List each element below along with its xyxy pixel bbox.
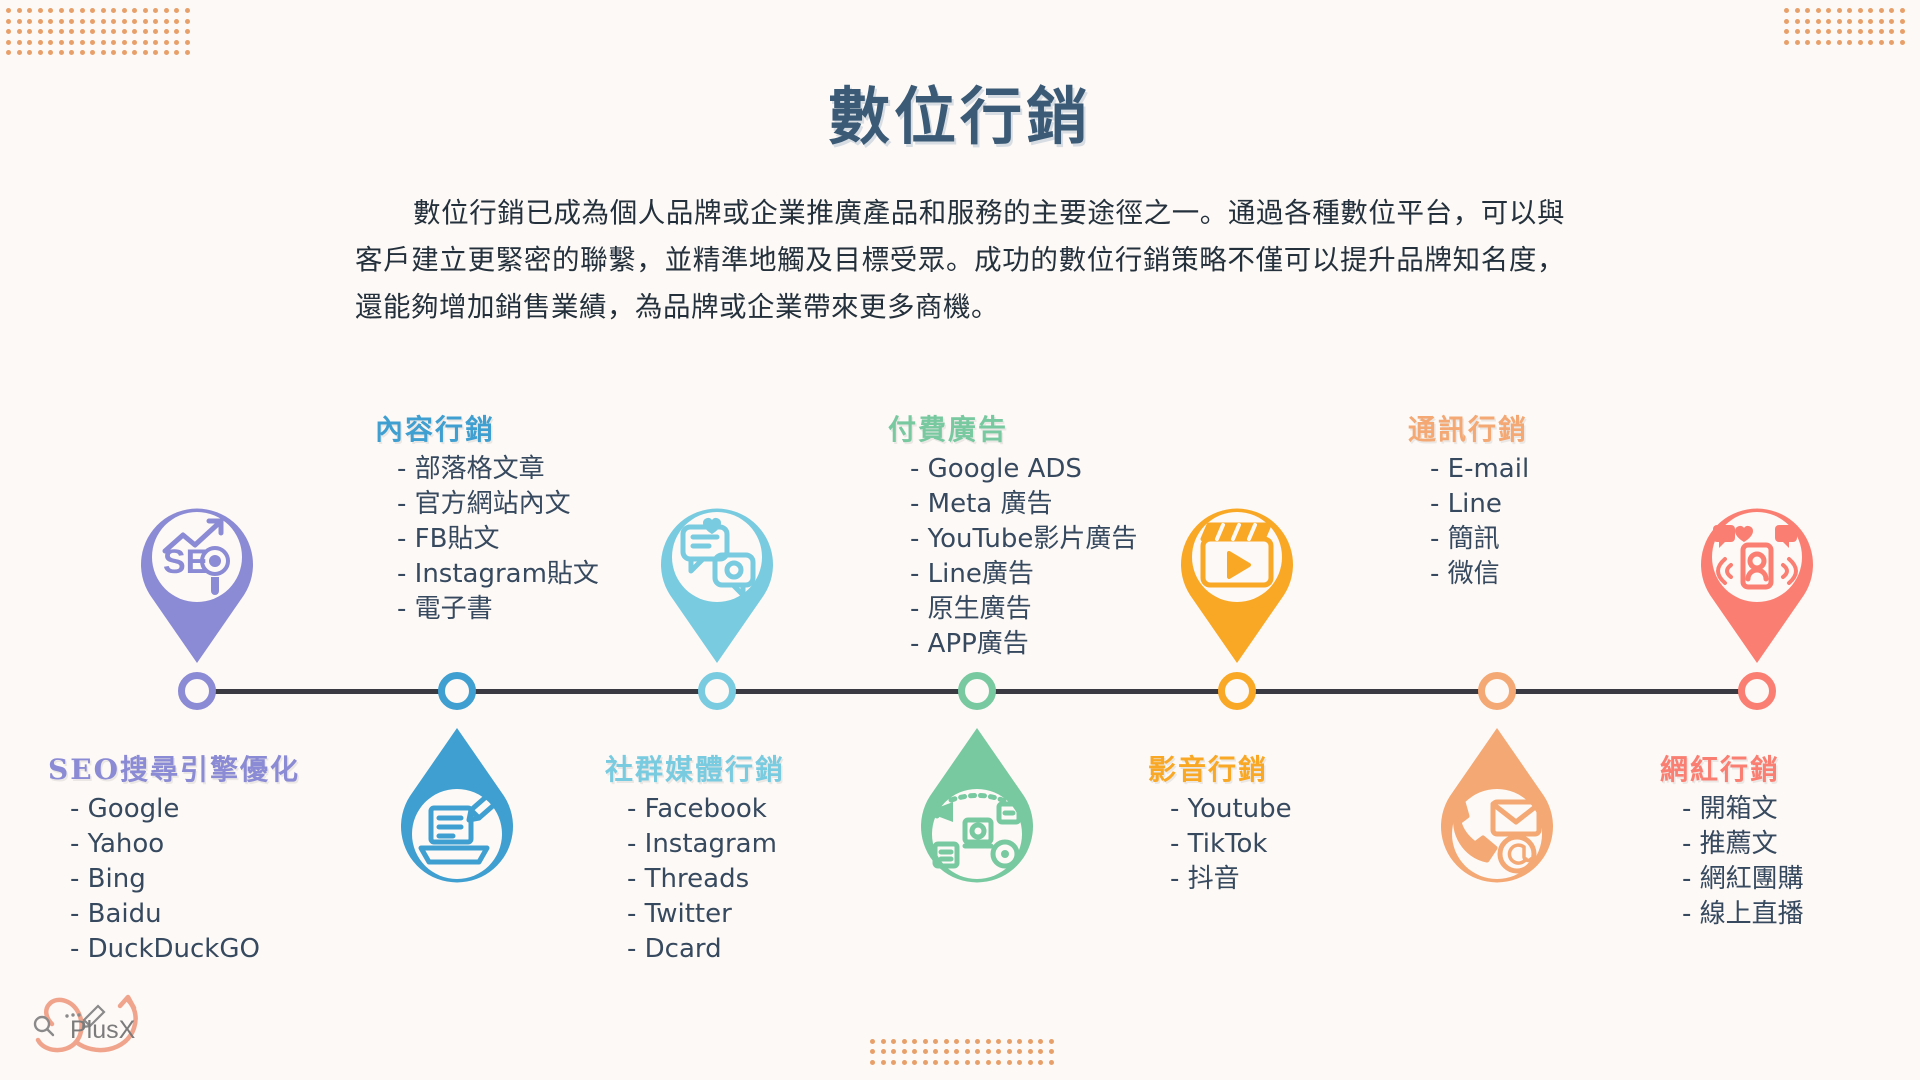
list-item: Line [1430,487,1529,522]
list-item: Line廣告 [910,557,1137,592]
list-item: Instagram [627,827,785,862]
section-list-video: YoutubeTikTok抖音 [1148,792,1292,897]
list-item: 推薦文 [1682,827,1804,862]
timeline-node-content[interactable] [438,672,476,710]
section-heading-video: 影音行銷 [1148,748,1292,788]
list-item: TikTok [1170,827,1292,862]
section-influencer: 網紅行銷開箱文推薦文網紅團購線上直播 [1660,748,1804,932]
list-item: Bing [70,862,300,897]
section-heading-paidads: 付費廣告 [888,408,1137,448]
intro-paragraph: 數位行銷已成為個人品牌或企業推廣產品和服務的主要途徑之一。通過各種數位平台，可以… [355,190,1565,331]
list-item: Facebook [627,792,785,827]
list-item: 部落格文章 [397,452,599,487]
list-item: FB貼文 [397,522,599,557]
list-item: Google [70,792,300,827]
section-heading-social: 社群媒體行銷 [605,748,785,788]
timeline-node-video[interactable] [1218,672,1256,710]
page-title: 數位行銷 [0,66,1920,156]
section-list-seo: GoogleYahooBingBaiduDuckDuckGO [48,792,300,967]
list-item: 官方網站內文 [397,487,599,522]
list-item: Baidu [70,897,300,932]
marker-pin-influencer[interactable] [1682,487,1832,663]
marker-pin-social[interactable] [642,487,792,663]
list-item: 線上直播 [1682,897,1804,932]
list-item: 網紅團購 [1682,862,1804,897]
list-item: Dcard [627,932,785,967]
list-item: DuckDuckGO [70,932,300,967]
section-paidads: 付費廣告Google ADSMeta 廣告YouTube影片廣告Line廣告原生… [888,408,1137,662]
list-item: 電子書 [397,592,599,627]
section-seo: SEO搜尋引擎優化GoogleYahooBingBaiduDuckDuckGO [48,748,300,967]
list-item: Twitter [627,897,785,932]
section-content: 內容行銷部落格文章官方網站內文FB貼文Instagram貼文電子書 [375,408,599,627]
list-item: E-mail [1430,452,1529,487]
timeline-node-influencer[interactable] [1738,672,1776,710]
list-item: APP廣告 [910,627,1137,662]
dot-pattern-bottom-center [870,1039,1059,1071]
timeline-node-messaging[interactable] [1478,672,1516,710]
section-messaging: 通訊行銷E-mailLine簡訊微信 [1408,408,1529,592]
section-heading-seo: SEO搜尋引擎優化 [48,748,300,788]
marker-pin-content[interactable] [382,728,532,904]
section-heading-content: 內容行銷 [375,408,599,448]
marker-pin-paidads[interactable] [902,728,1052,904]
section-list-paidads: Google ADSMeta 廣告YouTube影片廣告Line廣告原生廣告AP… [888,452,1137,662]
marker-pin-seo[interactable]: SE [122,487,272,663]
list-item: 簡訊 [1430,522,1529,557]
list-item: Google ADS [910,452,1137,487]
marker-pin-video[interactable] [1162,487,1312,663]
section-list-content: 部落格文章官方網站內文FB貼文Instagram貼文電子書 [375,452,599,627]
timeline-node-social[interactable] [698,672,736,710]
section-social: 社群媒體行銷FacebookInstagramThreadsTwitterDca… [605,748,785,967]
timeline-node-paidads[interactable] [958,672,996,710]
section-list-social: FacebookInstagramThreadsTwitterDcard [605,792,785,967]
list-item: Youtube [1170,792,1292,827]
list-item: Yahoo [70,827,300,862]
section-list-messaging: E-mailLine簡訊微信 [1408,452,1529,592]
list-item: Threads [627,862,785,897]
section-video: 影音行銷YoutubeTikTok抖音 [1148,748,1292,897]
list-item: 抖音 [1170,862,1292,897]
timeline-node-seo[interactable] [178,672,216,710]
section-heading-influencer: 網紅行銷 [1660,748,1804,788]
marker-pin-messaging[interactable] [1422,728,1572,904]
plusx-logo: PlusX [22,980,162,1058]
header: 數位行銷 數位行銷已成為個人品牌或企業推廣產品和服務的主要途徑之一。通過各種數位… [0,0,1920,331]
list-item: Meta 廣告 [910,487,1137,522]
list-item: 開箱文 [1682,792,1804,827]
list-item: Instagram貼文 [397,557,599,592]
section-list-influencer: 開箱文推薦文網紅團購線上直播 [1660,792,1804,932]
logo-text: PlusX [70,1016,136,1044]
list-item: YouTube影片廣告 [910,522,1137,557]
list-item: 原生廣告 [910,592,1137,627]
list-item: 微信 [1430,557,1529,592]
section-heading-messaging: 通訊行銷 [1408,408,1529,448]
